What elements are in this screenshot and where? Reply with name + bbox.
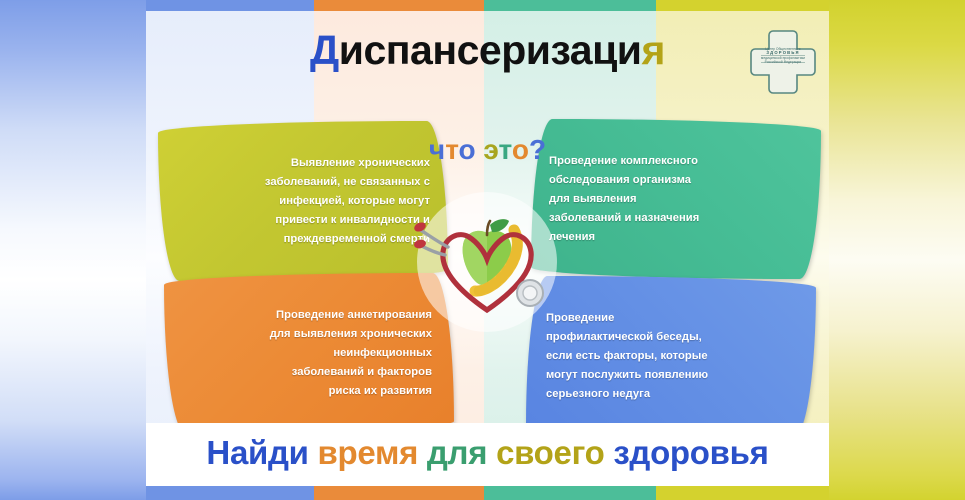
- petal-text: Проведение анкетирования для выявления х…: [164, 273, 454, 433]
- slogan: Найди время для своего здоровья: [146, 434, 829, 472]
- logo-text: Центр Общественного ЗДОРОВЬЯ медицинской…: [756, 47, 810, 65]
- petal-line: преждевременной смерти: [202, 230, 430, 249]
- bottom-color-strip: [146, 486, 829, 500]
- petal-line: если есть факторы, которые: [546, 347, 776, 366]
- title-middle: испансеризаци: [339, 27, 642, 73]
- subtitle-letter: о: [512, 134, 529, 165]
- title-first-letter: Д: [310, 27, 339, 73]
- slogan-word: своего: [496, 434, 604, 471]
- petal-line: Проведение: [546, 309, 776, 328]
- center-illustration: [414, 189, 560, 335]
- slogan-word: здоровья: [613, 434, 768, 471]
- petal-text: Проведение профилактической беседы, если…: [526, 276, 816, 436]
- petal-line: обследования организма: [549, 171, 777, 190]
- poster-card: Диспансеризация Центр Общественного ЗДОР…: [146, 11, 829, 485]
- title-last-letter: я: [642, 27, 665, 73]
- slogan-word: для: [427, 434, 487, 471]
- organization-logo: Центр Общественного ЗДОРОВЬЯ медицинской…: [747, 25, 819, 99]
- strip-band-blue: [146, 486, 314, 500]
- subtitle-letter: т: [445, 134, 458, 165]
- petal-line: для выявления хронических: [204, 325, 432, 344]
- petal-line: заболеваний, не связанных с: [202, 173, 430, 192]
- slogan-word: время: [318, 434, 419, 471]
- petal-line: могут послужить появлению: [546, 366, 776, 385]
- petal-line: привести к инвалидности и: [202, 211, 430, 230]
- petal-line: лечения: [549, 228, 777, 247]
- poster: Диспансеризация Центр Общественного ЗДОР…: [0, 0, 965, 500]
- subtitle: что это?: [146, 134, 829, 166]
- left-gradient-wing: [0, 0, 146, 500]
- strip-band-teal: [484, 486, 656, 500]
- subtitle-letter: ч: [429, 134, 445, 165]
- petal-line: профилактической беседы,: [546, 328, 776, 347]
- right-gradient-wing: [829, 0, 965, 500]
- page-title: Диспансеризация: [146, 27, 829, 74]
- stethoscope-chestpiece: [517, 280, 543, 306]
- subtitle-letter: э: [483, 134, 498, 165]
- petal-line: Проведение анкетирования: [204, 306, 432, 325]
- petal-bottom-right[interactable]: Проведение профилактической беседы, если…: [526, 276, 816, 436]
- petal-line: риска их развития: [204, 382, 432, 401]
- petal-line: для выявления: [549, 190, 777, 209]
- petal-line: инфекцией, которые могут: [202, 192, 430, 211]
- strip-band-orange: [314, 486, 484, 500]
- logo-line-3: медицинской профилактики: [761, 56, 805, 60]
- strip-band-yellow: [656, 486, 829, 500]
- petal-line: серьезного недуга: [546, 385, 776, 404]
- petal-bottom-left[interactable]: Проведение анкетирования для выявления х…: [164, 273, 454, 433]
- petal-line: неинфекционных: [204, 344, 432, 363]
- logo-line-4: Российской Федерации: [765, 60, 802, 64]
- subtitle-letter: ?: [529, 134, 546, 165]
- petal-line: заболеваний и факторов: [204, 363, 432, 382]
- subtitle-letter: о: [459, 134, 476, 165]
- subtitle-letter: т: [499, 134, 512, 165]
- petal-line: заболеваний и назначения: [549, 209, 777, 228]
- slogan-word: Найди: [206, 434, 308, 471]
